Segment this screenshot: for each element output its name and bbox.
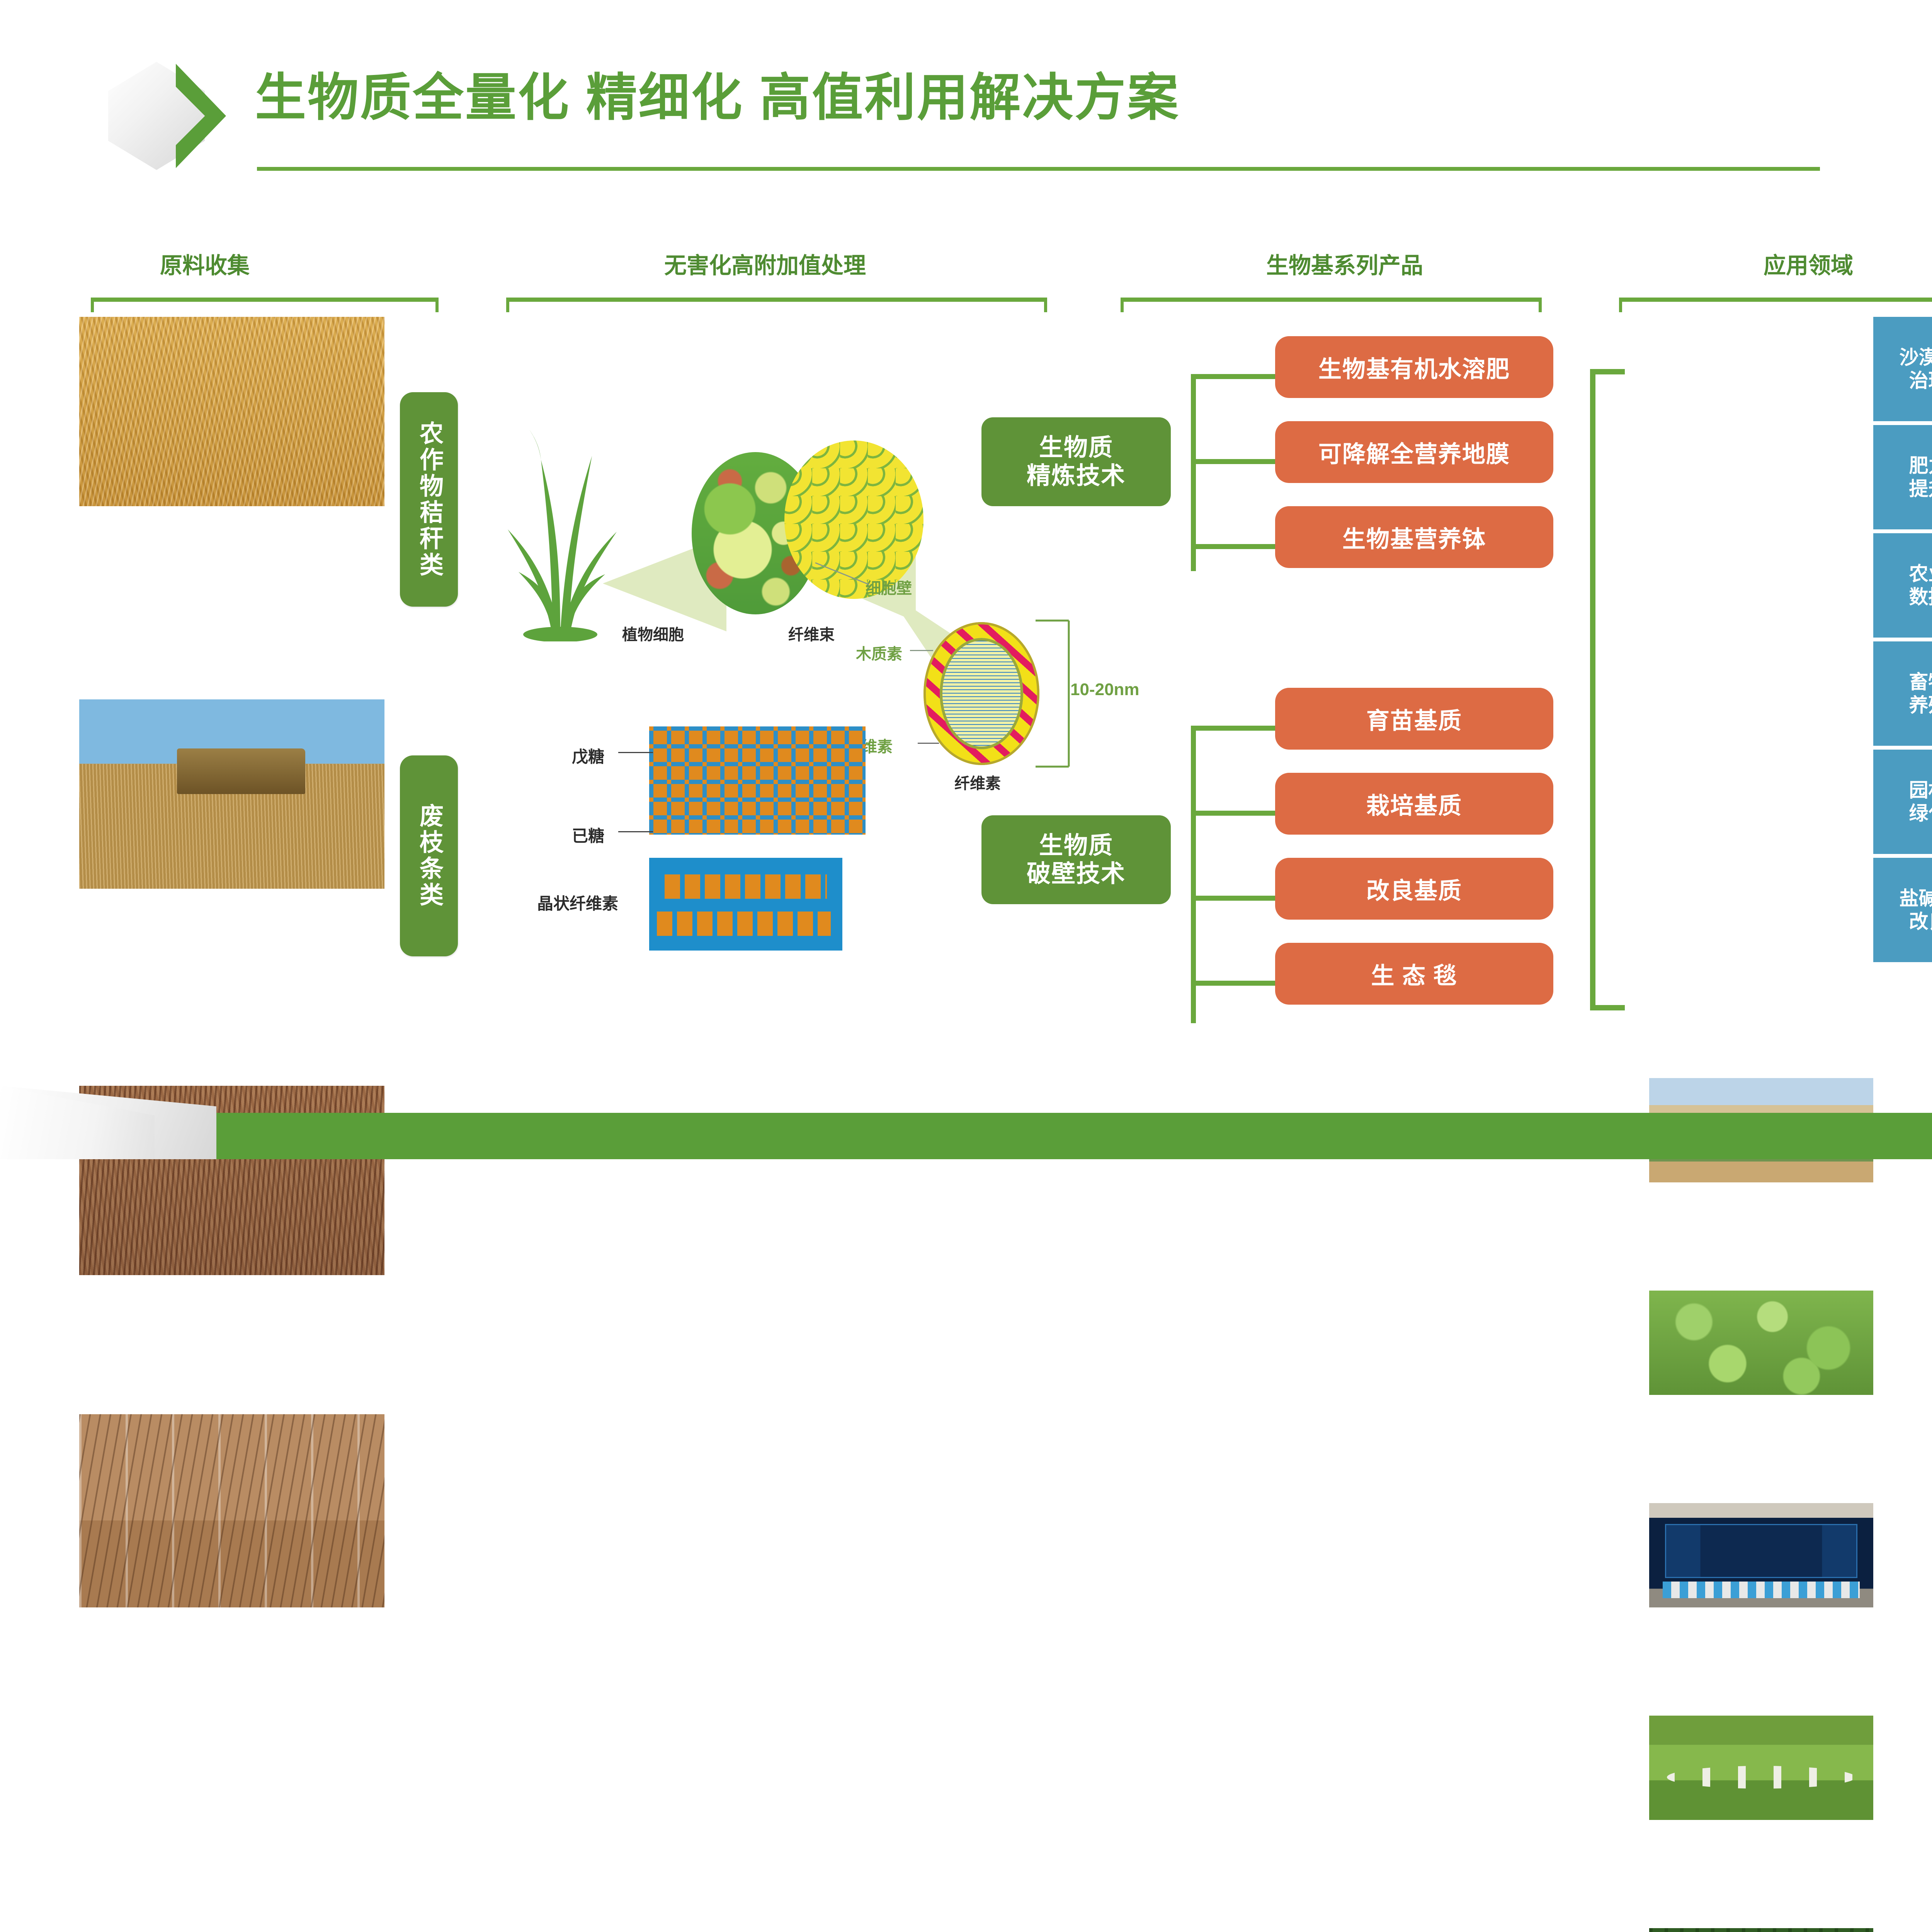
product-box-cultivation-substrate[interactable]: 栽培基质 [1275, 773, 1553, 835]
app-4-line-1: 园林 [1909, 779, 1932, 802]
label-lignin: 木质素 [856, 641, 902, 664]
label-fiber-dimension: 10-20nm [1070, 680, 1139, 699]
application-label-landscape-greening: 园林 绿化 [1873, 750, 1932, 854]
leader-line-hemicellulose [918, 743, 939, 744]
grass-plant-icon [502, 402, 618, 641]
label-pentose: 戊糖 [572, 744, 604, 767]
app-1-line-1: 肥力 [1909, 454, 1932, 477]
tech-box-2-line-1: 生物质 [1039, 832, 1113, 860]
leader-line-hexose [618, 831, 653, 832]
column-heading-products: 生物基系列产品 [1113, 247, 1577, 280]
bracket-products [1121, 298, 1542, 312]
app-2-line-2: 数据 [1909, 585, 1932, 609]
grazing-sheep-photo [1649, 1716, 1873, 1820]
product-box-improvement-substrate[interactable]: 改良基质 [1275, 858, 1553, 920]
tech-box-biomass-refining[interactable]: 生物质 精炼技术 [981, 417, 1171, 506]
app-5-line-2: 改良 [1909, 910, 1932, 933]
category-label-crop-straw: 农作物秸秆类 [400, 392, 458, 607]
app-3-line-1: 畜牧 [1909, 670, 1932, 694]
bracket-processing [506, 298, 1047, 312]
tech-box-line-2: 精炼技术 [1027, 462, 1126, 490]
chevron-right-icon [176, 64, 226, 168]
column-heading-processing: 无害化高附加值处理 [456, 247, 1074, 280]
app-3-line-2: 养殖 [1909, 694, 1932, 717]
label-cell-wall: 细胞壁 [866, 576, 912, 598]
app-2-line-1: 农业 [1909, 562, 1932, 585]
vineyard-pruning-photo [79, 1414, 384, 1607]
corn-stalk-field-photo [79, 317, 384, 506]
sugar-chain-illustration [649, 726, 866, 835]
product-box-biodegradable-mulch-film[interactable]: 可降解全营养地膜 [1275, 421, 1553, 483]
application-label-fertility-improvement: 肥力 提升 [1873, 425, 1932, 529]
infographic-canvas: 生物质全量化 精细化 高值利用解决方案 原料收集 无害化高附加值处理 生物基系列… [0, 0, 1932, 1159]
leader-line-lignin [910, 650, 933, 651]
product-box-water-soluble-fertilizer[interactable]: 生物基有机水溶肥 [1275, 336, 1553, 398]
product-box-seedling-substrate[interactable]: 育苗基质 [1275, 688, 1553, 750]
label-hexose: 已糖 [572, 823, 604, 847]
label-cellulose: 纤维素 [954, 771, 1001, 793]
fiber-bundle-illustration [784, 440, 923, 599]
application-label-saline-alkali-improvement: 盐碱地 改良 [1873, 858, 1932, 962]
app-1-line-2: 提升 [1909, 477, 1932, 500]
product-box-ecological-blanket[interactable]: 生 态 毯 [1275, 943, 1553, 1005]
label-fiber-bundle: 纤维束 [788, 622, 835, 645]
straw-bale-field-photo [79, 699, 384, 889]
app-5-line-1: 盐碱地 [1900, 887, 1932, 910]
crystalline-cellulose-illustration [649, 858, 842, 951]
tech-box-2-line-2: 破壁技术 [1027, 860, 1126, 888]
landscape-greening-photo [1649, 1928, 1873, 1932]
title-underline-rule [257, 167, 1820, 171]
category-label-waste-branches: 废枝条类 [400, 755, 458, 956]
tech-box-cell-wall-breaking[interactable]: 生物质 破壁技术 [981, 815, 1171, 904]
application-label-livestock-breeding: 畜牧 养殖 [1873, 641, 1932, 746]
cellulose-cross-section-illustration [923, 622, 1039, 765]
application-label-desertification-control: 沙漠化 治理 [1873, 317, 1932, 421]
application-label-agriculture-data: 农业 数据 [1873, 533, 1932, 638]
label-crystalline-cellulose: 晶状纤维素 [537, 891, 618, 914]
control-room-dashboard-photo [1649, 1503, 1873, 1607]
app-0-line-2: 治理 [1909, 369, 1932, 392]
page-title: 生物质全量化 精细化 高值利用解决方案 [255, 70, 1180, 126]
connector-trunk-1 [1191, 374, 1196, 571]
cabbage-field-photo [1649, 1291, 1873, 1395]
column-heading-raw-material: 原料收集 [70, 247, 340, 280]
column-heading-applications: 应用领域 [1615, 247, 1932, 280]
connector-bracket-to-applications [1590, 369, 1625, 1010]
product-box-nutrition-pot[interactable]: 生物基营养钵 [1275, 506, 1553, 568]
label-plant-cell: 植物细胞 [622, 622, 684, 645]
app-0-line-1: 沙漠化 [1900, 346, 1932, 369]
bracket-applications [1619, 298, 1932, 312]
footer-bar [0, 1113, 1932, 1159]
app-4-line-2: 绿化 [1909, 802, 1932, 825]
tech-box-line-1: 生物质 [1039, 434, 1113, 462]
connector-trunk-2 [1191, 726, 1196, 1023]
leader-line-pentose [618, 752, 653, 753]
bracket-raw-material [91, 298, 439, 312]
